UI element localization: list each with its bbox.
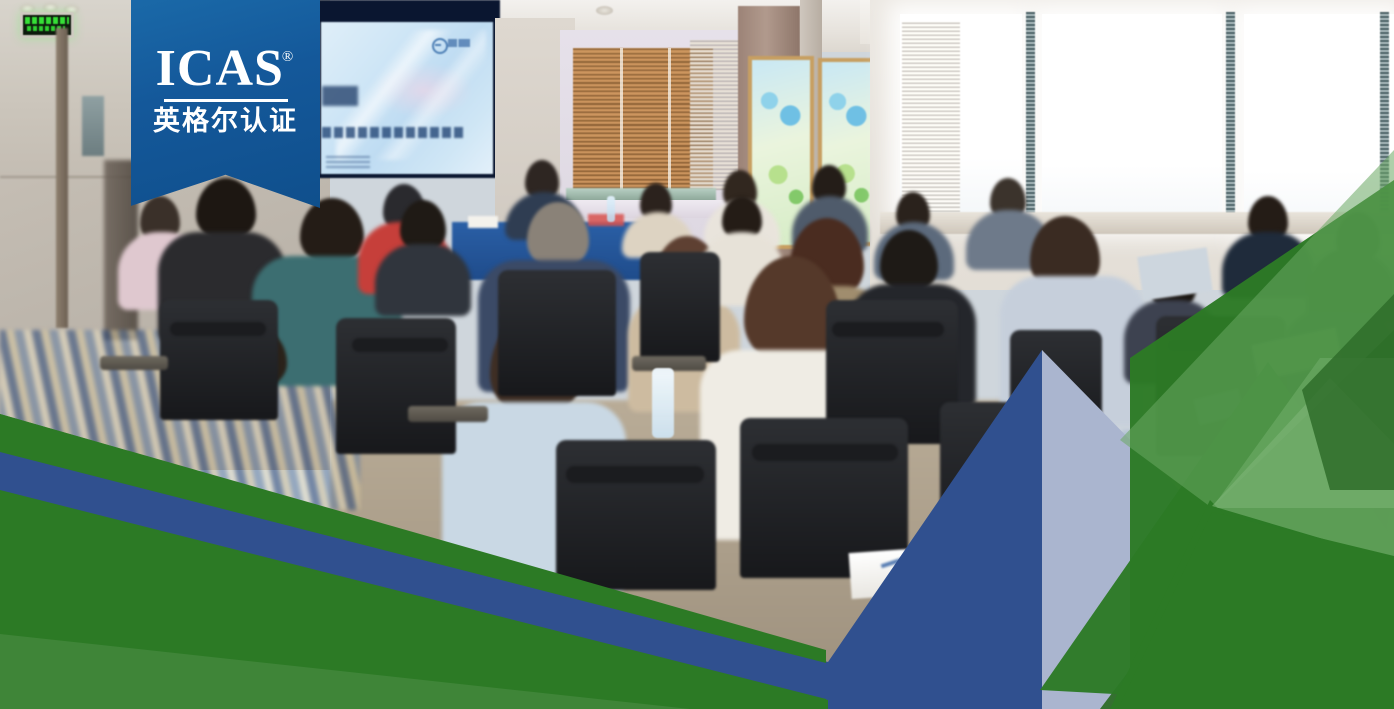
chair-armrest (352, 338, 448, 352)
slide-logo-text (448, 39, 470, 47)
ceiling-light (43, 3, 58, 12)
logo-divider-rule (164, 99, 288, 102)
chair (556, 440, 716, 590)
logo-wordmark: ICAS (156, 44, 284, 95)
banner-canvas: ICAS® 英格尔认证 (0, 0, 1394, 709)
door-frame (56, 28, 68, 328)
chair (160, 300, 278, 420)
water-bottle (652, 368, 674, 438)
window-mullion (1026, 12, 1035, 218)
slide-footnote (326, 156, 370, 168)
icas-logo-block[interactable]: ICAS® 英格尔认证 (131, 0, 320, 208)
registered-trademark-icon: ® (282, 49, 293, 65)
slide-title (322, 86, 382, 106)
chair (640, 252, 720, 362)
chair (1156, 316, 1286, 456)
blind-divider (668, 48, 671, 193)
tablet-device (1137, 247, 1212, 300)
table-paper (468, 216, 498, 228)
water-bottle (607, 196, 615, 222)
window-pane (1042, 14, 1222, 224)
sheer-blinds (690, 40, 740, 190)
logo-chinese-name: 英格尔认证 (131, 108, 320, 135)
chair-tablet-arm (100, 356, 168, 370)
window-mullion (1226, 12, 1235, 226)
chair-armrest (170, 322, 266, 336)
logo-content: ICAS® 英格尔认证 (131, 44, 320, 135)
chair-armrest (832, 322, 944, 337)
table-item (588, 214, 624, 226)
window-blinds (902, 22, 960, 212)
chair (498, 270, 616, 396)
chair-armrest (752, 444, 898, 461)
blind-divider (620, 48, 623, 193)
attendee-body (1222, 232, 1314, 298)
window-mullion (1380, 12, 1389, 230)
attendee-body (375, 244, 471, 316)
chair-armrest (566, 466, 704, 483)
slide-logo-ring-icon (432, 38, 448, 54)
door-panel (82, 96, 104, 156)
smoke-detector-icon (596, 6, 613, 15)
window-ledge (880, 212, 1394, 234)
slide-logo-icon (432, 38, 472, 50)
slide-subtitle (322, 127, 466, 138)
chair-tablet-arm (408, 406, 488, 422)
